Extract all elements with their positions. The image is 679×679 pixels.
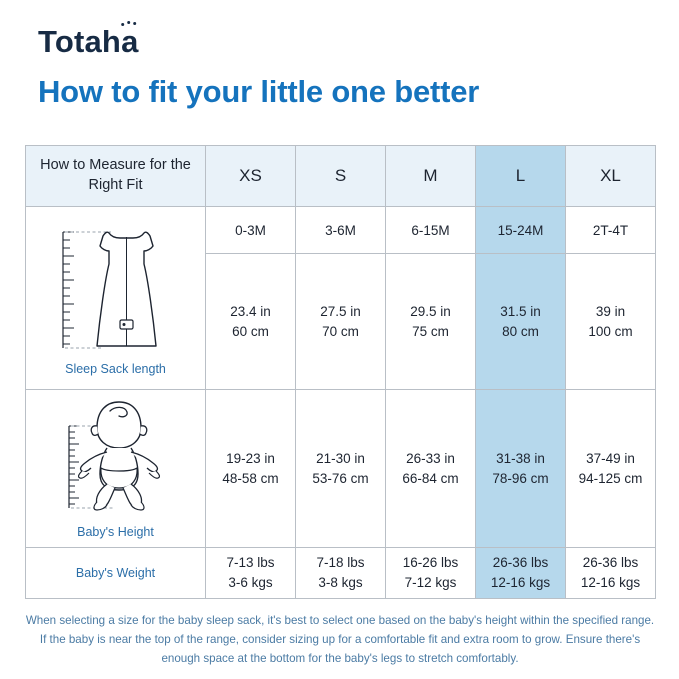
- cell-age-m: 6-15M: [386, 207, 476, 254]
- cell-sleep-sack-illustration: Sleep Sack length: [26, 207, 206, 390]
- column-header-s: S: [296, 146, 386, 207]
- baby-height-label: Baby's Height: [77, 525, 154, 539]
- cell-weight-l: 26-36 lbs 12-16 kgs: [476, 548, 566, 599]
- cell-height-m: 26-33 in 66-84 cm: [386, 390, 476, 548]
- size-chart-container: How to Measure for the Right Fit XS S M …: [25, 145, 655, 599]
- table-row-baby-height: Baby's Height 19-23 in 48-58 cm 21-30 in…: [26, 390, 656, 548]
- cell-baby-height-illustration: Baby's Height: [26, 390, 206, 548]
- baby-weight-label: Baby's Weight: [26, 548, 206, 599]
- cell-age-l: 15-24M: [476, 207, 566, 254]
- cell-length-m: 29.5 in 75 cm: [386, 254, 476, 390]
- sizing-guidance-note: When selecting a size for the baby sleep…: [22, 612, 658, 668]
- brand-logo-text: Totah: [38, 24, 121, 59]
- column-header-measure: How to Measure for the Right Fit: [26, 146, 206, 207]
- cell-height-s: 21-30 in 53-76 cm: [296, 390, 386, 548]
- brand-logo-umlaut-letter: a: [121, 26, 138, 57]
- cell-height-xs: 19-23 in 48-58 cm: [206, 390, 296, 548]
- cell-age-s: 3-6M: [296, 207, 386, 254]
- baby-ruler-icon: [41, 398, 191, 523]
- cell-length-xs: 23.4 in 60 cm: [206, 254, 296, 390]
- cell-length-l: 31.5 in 80 cm: [476, 254, 566, 390]
- brand-logo-final-letter: a: [121, 24, 138, 59]
- cell-weight-m: 16-26 lbs 7-12 kgs: [386, 548, 476, 599]
- table-header-row: How to Measure for the Right Fit XS S M …: [26, 146, 656, 207]
- cell-weight-s: 7-18 lbs 3-8 kgs: [296, 548, 386, 599]
- column-header-l: L: [476, 146, 566, 207]
- cell-weight-xl: 26-36 lbs 12-16 kgs: [566, 548, 656, 599]
- cell-height-l: 31-38 in 78-96 cm: [476, 390, 566, 548]
- table-row-baby-weight: Baby's Weight 7-13 lbs 3-6 kgs 7-18 lbs …: [26, 548, 656, 599]
- column-header-xl: XL: [566, 146, 656, 207]
- size-chart-table: How to Measure for the Right Fit XS S M …: [25, 145, 656, 599]
- brand-logo: Totaha: [38, 26, 139, 57]
- table-row-age: Sleep Sack length 0-3M 3-6M 6-15M 15-24M…: [26, 207, 656, 254]
- column-header-xs: XS: [206, 146, 296, 207]
- cell-length-s: 27.5 in 70 cm: [296, 254, 386, 390]
- sleep-sack-length-label: Sleep Sack length: [65, 362, 166, 376]
- page-title: How to fit your little one better: [38, 74, 479, 110]
- cell-height-xl: 37-49 in 94-125 cm: [566, 390, 656, 548]
- cell-length-xl: 39 in 100 cm: [566, 254, 656, 390]
- sleep-sack-ruler-icon: [41, 220, 191, 360]
- cell-age-xl: 2T-4T: [566, 207, 656, 254]
- column-header-m: M: [386, 146, 476, 207]
- cell-weight-xs: 7-13 lbs 3-6 kgs: [206, 548, 296, 599]
- cell-age-xs: 0-3M: [206, 207, 296, 254]
